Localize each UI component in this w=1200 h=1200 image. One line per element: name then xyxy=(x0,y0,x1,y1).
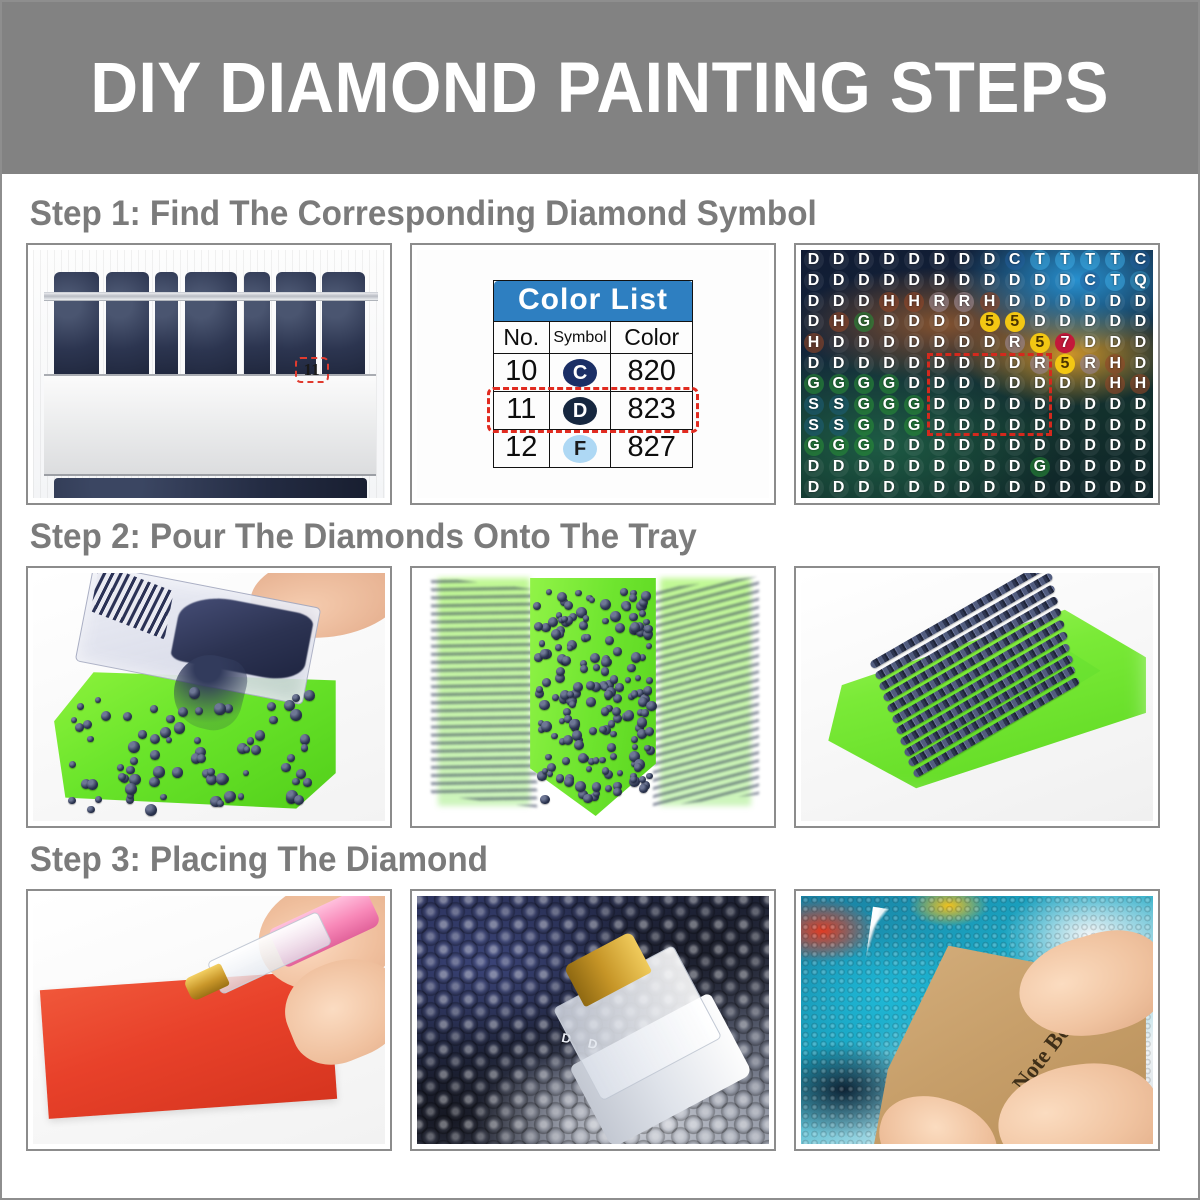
canvas-cell: 5 xyxy=(1002,312,1027,333)
canvas-cell: D xyxy=(977,250,1002,271)
canvas-cell: D xyxy=(1052,374,1077,395)
diamond-bead xyxy=(561,616,567,622)
canvas-cell: D xyxy=(902,333,927,354)
canvas-cell: D xyxy=(876,436,901,457)
diamond-bead xyxy=(627,664,636,673)
canvas-cell: H xyxy=(902,291,927,312)
canvas-cell: S xyxy=(801,395,826,416)
row-color: 827 xyxy=(611,430,693,468)
canvas-cell: H xyxy=(826,312,851,333)
diamond-bead xyxy=(269,716,277,724)
diamond-bead xyxy=(118,773,126,781)
diamond-bead xyxy=(580,665,588,673)
canvas-cell: D xyxy=(1002,271,1027,292)
canvas-cell: D xyxy=(801,291,826,312)
canvas-cell: D xyxy=(851,333,876,354)
canvas-cell: D xyxy=(1103,333,1128,354)
canvas-cell: D xyxy=(851,477,876,498)
diamond-bead xyxy=(593,664,599,670)
steps-container: Step 1: Find The Corresponding Diamond S… xyxy=(2,174,1198,1198)
diamond-bag-image: 11 xyxy=(33,250,385,498)
canvas-cell: D xyxy=(876,250,901,271)
canvas-cell: G xyxy=(851,374,876,395)
canvas-cell: D xyxy=(1128,395,1153,416)
row-no: 10 xyxy=(494,354,550,392)
diamond-bead xyxy=(548,617,558,627)
canvas-cell: D xyxy=(977,395,1002,416)
canvas-cell: D xyxy=(1052,271,1077,292)
diamond-bead xyxy=(117,764,124,771)
diamond-bead xyxy=(644,686,653,695)
diamond-bead xyxy=(178,707,188,717)
canvas-cell: D xyxy=(1078,395,1103,416)
panel-press-notebook: Note Book xyxy=(794,889,1160,1151)
canvas-cell: T xyxy=(1103,250,1128,271)
diamond-bead xyxy=(607,743,616,752)
canvas-cell: D xyxy=(1052,436,1077,457)
canvas-cell: D xyxy=(876,333,901,354)
canvas-cell: D xyxy=(977,333,1002,354)
canvas-cell: G xyxy=(851,395,876,416)
diamond-bead xyxy=(536,686,543,693)
canvas-cell: G xyxy=(902,395,927,416)
panel-color-list: Color List No. Symbol Color 10 C xyxy=(410,243,776,505)
canvas-cell: D xyxy=(851,457,876,478)
canvas-cell: D xyxy=(1078,333,1103,354)
column-header-color: Color xyxy=(611,322,693,354)
diamond-bead xyxy=(604,690,613,699)
canvas-cell: D xyxy=(927,457,952,478)
canvas-cell: T xyxy=(1103,271,1128,292)
symbol-badge: C xyxy=(563,359,597,387)
canvas-cell: R xyxy=(1002,333,1027,354)
step-2-block: Step 2: Pour The Diamonds Onto The Tray xyxy=(26,505,1176,828)
canvas-cell: C xyxy=(1128,250,1153,271)
diamond-bead xyxy=(569,701,576,708)
canvas-cell: D xyxy=(1078,312,1103,333)
canvas-cell: D xyxy=(952,457,977,478)
place-diamond-closeup-image: D D D xyxy=(417,896,769,1144)
panel-shake-tray xyxy=(410,566,776,828)
canvas-cell: R xyxy=(927,291,952,312)
column-header-no: No. xyxy=(494,322,550,354)
canvas-cell: D xyxy=(1128,312,1153,333)
step-2-panels xyxy=(26,566,1176,828)
diamond-bead xyxy=(610,753,617,760)
canvas-cell: D xyxy=(1078,436,1103,457)
diamond-bead xyxy=(584,634,591,641)
bead-cluster xyxy=(244,272,270,381)
diamond-bead xyxy=(77,703,83,709)
column-header-symbol: Symbol xyxy=(549,322,611,354)
canvas-cell: D xyxy=(952,374,977,395)
canvas-cell: D xyxy=(826,477,851,498)
diamond-bead xyxy=(217,800,224,807)
canvas-cell: D xyxy=(1052,457,1077,478)
canvas-cell: 5 xyxy=(1027,333,1052,354)
canvas-cell: G xyxy=(826,436,851,457)
diamond-bead xyxy=(639,784,648,793)
canvas-cell: D xyxy=(826,333,851,354)
diamond-bead xyxy=(569,719,580,730)
diamond-bead xyxy=(255,730,266,741)
diamond-bead xyxy=(613,647,622,656)
canvas-cell: D xyxy=(1128,291,1153,312)
diamond-bead xyxy=(610,611,621,622)
canvas-cell: D xyxy=(1027,374,1052,395)
canvas-cell: G xyxy=(876,374,901,395)
diamond-bead xyxy=(206,774,217,785)
motion-blur-right xyxy=(653,576,759,807)
canvas-cell: D xyxy=(1027,415,1052,436)
diamond-bead xyxy=(216,773,227,784)
canvas-cell: S xyxy=(801,415,826,436)
canvas-cell: G xyxy=(851,436,876,457)
diamond-bead xyxy=(244,746,250,752)
diamond-bead xyxy=(612,707,621,716)
canvas-cell: C xyxy=(1078,271,1103,292)
diamond-bead xyxy=(145,804,157,816)
diamond-bead xyxy=(583,794,592,803)
canvas-cell: D xyxy=(826,250,851,271)
canvas-cell: D xyxy=(952,250,977,271)
diamond-bead xyxy=(75,723,84,732)
canvas-cell: Q xyxy=(1128,271,1153,292)
diamond-bead xyxy=(615,683,624,692)
canvas-cell: H xyxy=(801,333,826,354)
canvas-cell: D xyxy=(927,333,952,354)
diamond-bead xyxy=(563,735,573,745)
canvas-cell: D xyxy=(1128,436,1153,457)
diamond-bead xyxy=(542,678,551,687)
canvas-cell: D xyxy=(1002,415,1027,436)
canvas-cell: G xyxy=(801,436,826,457)
row-color: 823 xyxy=(611,392,693,430)
canvas-cell: D xyxy=(1078,374,1103,395)
diamond-bead xyxy=(639,776,646,783)
canvas-cell: D xyxy=(1128,457,1153,478)
canvas-cell: D xyxy=(902,374,927,395)
diamond-bead xyxy=(207,768,215,776)
canvas-cell: H xyxy=(977,291,1002,312)
color-list-image: Color List No. Symbol Color 10 C xyxy=(417,250,769,498)
canvas-cell: R xyxy=(952,291,977,312)
canvas-cell: D xyxy=(902,353,927,374)
canvas-cell: D xyxy=(1103,395,1128,416)
canvas-cell: D xyxy=(1103,291,1128,312)
page-header: DIY DIAMOND PAINTING STEPS xyxy=(2,2,1198,174)
diamond-bead xyxy=(68,797,76,805)
canvas-cell: T xyxy=(1052,250,1077,271)
canvas-cell: D xyxy=(801,477,826,498)
canvas-cell: D xyxy=(977,353,1002,374)
canvas-cell: T xyxy=(1027,250,1052,271)
canvas-cell: H xyxy=(1103,374,1128,395)
diamond-bead xyxy=(87,806,94,813)
step-1-title: Step 1: Find The Corresponding Diamond S… xyxy=(26,182,1119,243)
canvas-cell: D xyxy=(952,333,977,354)
canvas-cell: D xyxy=(952,415,977,436)
diamond-bead xyxy=(601,657,611,667)
row-no: 12 xyxy=(494,430,550,468)
bag-zip-seal xyxy=(44,292,378,301)
diamond-bead xyxy=(599,726,607,734)
canvas-cell: D xyxy=(1103,477,1128,498)
canvas-cell: D xyxy=(876,353,901,374)
canvas-cell: D xyxy=(902,436,927,457)
diamond-bead xyxy=(303,778,312,787)
canvas-cell: H xyxy=(1128,374,1153,395)
panel-diamond-bag: 11 xyxy=(26,243,392,505)
diamond-bead xyxy=(294,795,304,805)
diamond-bead xyxy=(197,754,206,763)
row-color: 820 xyxy=(611,354,693,392)
canvas-cell: S xyxy=(826,395,851,416)
press-notebook-image: Note Book xyxy=(801,896,1153,1144)
canvas-cell: D xyxy=(801,271,826,292)
canvas-cell: D xyxy=(1002,436,1027,457)
canvas-cell: D xyxy=(1052,291,1077,312)
canvas-cell: D xyxy=(1002,395,1027,416)
canvas-cell: T xyxy=(1078,250,1103,271)
motion-blur-left xyxy=(431,576,537,807)
canvas-cell: G xyxy=(851,415,876,436)
canvas-cell: D xyxy=(876,271,901,292)
canvas-cell: D xyxy=(1078,477,1103,498)
step-1-block: Step 1: Find The Corresponding Diamond S… xyxy=(26,182,1176,505)
canvas-cell: H xyxy=(1103,353,1128,374)
panel-place-diamond: D D D xyxy=(410,889,776,1151)
diamond-bead xyxy=(602,767,610,775)
canvas-cell: D xyxy=(1002,353,1027,374)
diamond-bead xyxy=(620,588,628,596)
canvas-cell: 5 xyxy=(1052,353,1077,374)
bead-cluster xyxy=(155,272,178,381)
row-symbol: C xyxy=(549,354,611,392)
canvas-cell: D xyxy=(902,250,927,271)
diamond-bead xyxy=(631,736,638,743)
canvas-cell: S xyxy=(826,415,851,436)
diamond-bead xyxy=(301,744,308,751)
symbol-badge: F xyxy=(563,435,597,463)
diamond-bead xyxy=(646,643,652,649)
canvas-cell: D xyxy=(1078,291,1103,312)
canvas-cell: G xyxy=(851,312,876,333)
canvas-cell: D xyxy=(826,271,851,292)
diamond-bead xyxy=(540,649,550,659)
diamond-bead xyxy=(624,710,634,720)
diamond-bead xyxy=(610,675,618,683)
canvas-cell: D xyxy=(1002,374,1027,395)
diamond-bead xyxy=(629,594,637,602)
canvas-cell: D xyxy=(1027,395,1052,416)
diamond-bead xyxy=(138,730,147,739)
diamond-bead xyxy=(602,618,608,624)
canvas-cell: D xyxy=(952,271,977,292)
diamond-bead xyxy=(564,777,574,787)
diamond-bead xyxy=(149,777,160,788)
canvas-cell: D xyxy=(952,312,977,333)
canvas-cell: D xyxy=(1027,291,1052,312)
panel-symbol-canvas: DDDDDDDDCTTTTCDDDDDDDDDDDCTQDDDHHRRHDDDD… xyxy=(794,243,1160,505)
canvas-cell: 5 xyxy=(977,312,1002,333)
canvas-cell: D xyxy=(1103,312,1128,333)
diamond-bead xyxy=(646,773,653,780)
table-row: 10 C 820 xyxy=(494,354,693,392)
canvas-cell: D xyxy=(927,415,952,436)
diamond-bead xyxy=(287,754,295,762)
diamond-bead xyxy=(567,691,574,698)
diamond-bead xyxy=(87,779,98,790)
canvas-cell: D xyxy=(1128,415,1153,436)
diamond-bead xyxy=(562,656,571,665)
canvas-cell: D xyxy=(1128,477,1153,498)
diamond-bead xyxy=(635,675,641,681)
canvas-cell: D xyxy=(902,312,927,333)
canvas-cell: D xyxy=(826,291,851,312)
diamond-bead xyxy=(586,697,596,707)
diamond-bead xyxy=(300,734,310,744)
canvas-cell: D xyxy=(1078,415,1103,436)
step-2-title: Step 2: Pour The Diamonds Onto The Tray xyxy=(26,505,1119,566)
canvas-cell: D xyxy=(1027,312,1052,333)
canvas-cell: D xyxy=(876,415,901,436)
canvas-cell: D xyxy=(952,477,977,498)
diamond-bead xyxy=(247,737,254,744)
row-symbol: D xyxy=(549,392,611,430)
bead-cluster xyxy=(106,272,149,381)
canvas-cell: D xyxy=(801,353,826,374)
bag-white-label xyxy=(44,374,377,476)
diamond-bead xyxy=(238,793,244,799)
canvas-cell: G xyxy=(826,374,851,395)
canvas-cell: H xyxy=(876,291,901,312)
diamond-bead xyxy=(126,766,135,775)
diamond-bead xyxy=(551,629,561,639)
diamond-bead xyxy=(281,763,291,773)
canvas-cell: D xyxy=(952,436,977,457)
diamond-bead xyxy=(562,757,570,765)
infographic-page: DIY DIAMOND PAINTING STEPS Step 1: Find … xyxy=(0,0,1200,1200)
canvas-cell: D xyxy=(927,477,952,498)
panel-pour-into-tray xyxy=(26,566,392,828)
diamond-bead xyxy=(539,640,545,646)
diamond-bead xyxy=(304,690,315,701)
canvas-cell: D xyxy=(977,271,1002,292)
symbol-badge: D xyxy=(563,397,597,425)
diamond-bead xyxy=(125,783,137,795)
diamond-bead xyxy=(290,709,302,721)
diamond-bead xyxy=(574,740,584,750)
shake-tray-image xyxy=(417,573,769,821)
diamond-bead xyxy=(534,622,543,631)
canvas-cell: D xyxy=(1027,477,1052,498)
canvas-cell: G xyxy=(801,374,826,395)
canvas-cell: D xyxy=(977,457,1002,478)
canvas-cell: D xyxy=(927,271,952,292)
diamond-bead xyxy=(630,622,641,633)
bag-number-badge: 11 xyxy=(295,357,329,383)
canvas-cell: D xyxy=(902,477,927,498)
diamond-bead xyxy=(556,774,565,783)
canvas-cell: D xyxy=(801,250,826,271)
diamond-bead xyxy=(605,636,614,645)
pen-wax-pad-image xyxy=(33,896,385,1144)
symbol-grid: DDDDDDDDCTTTTCDDDDDDDDDDDCTQDDDHHRRHDDDD… xyxy=(801,250,1153,498)
diamond-bead xyxy=(69,761,76,768)
canvas-cell: D xyxy=(927,436,952,457)
canvas-cell: D xyxy=(1052,312,1077,333)
canvas-cell: D xyxy=(927,353,952,374)
diamond-bead xyxy=(556,667,565,676)
diamond-bead xyxy=(150,705,158,713)
pen-gold-tip xyxy=(183,964,230,1003)
diamond-bead xyxy=(541,721,552,732)
step-3-block: Step 3: Placing The Diamond xyxy=(26,828,1176,1151)
diamond-bead xyxy=(150,750,160,760)
canvas-cell: R xyxy=(1078,353,1103,374)
canvas-cell: D xyxy=(927,250,952,271)
diamond-bead xyxy=(95,796,102,803)
diamond-bead xyxy=(641,709,649,717)
diamond-bead xyxy=(267,702,276,711)
canvas-cell: D xyxy=(902,271,927,292)
canvas-cell: 7 xyxy=(1052,333,1077,354)
aligned-diamonds-tray-image xyxy=(801,573,1153,821)
canvas-cell: D xyxy=(927,312,952,333)
color-list-table: Color List No. Symbol Color 10 C xyxy=(493,280,693,468)
canvas-cell: R xyxy=(1027,353,1052,374)
diamond-bead xyxy=(613,788,621,796)
pour-bag-into-tray-image xyxy=(33,573,385,821)
canvas-cell: D xyxy=(1027,271,1052,292)
canvas-cell: D xyxy=(977,436,1002,457)
diamond-bead xyxy=(583,615,590,622)
canvas-cell: D xyxy=(1128,353,1153,374)
diamond-bead xyxy=(552,694,559,701)
canvas-cell: C xyxy=(1002,250,1027,271)
canvas-cell: D xyxy=(851,291,876,312)
diamond-bead xyxy=(586,681,595,690)
diamond-bead xyxy=(592,782,601,791)
canvas-cell: D xyxy=(1103,436,1128,457)
row-no: 11 xyxy=(494,392,550,430)
canvas-cell: D xyxy=(851,250,876,271)
diamond-bead xyxy=(83,720,92,729)
canvas-cell: D xyxy=(927,395,952,416)
canvas-cell: D xyxy=(902,457,927,478)
bead-cluster xyxy=(185,272,237,381)
diamond-bead xyxy=(631,691,638,698)
diamond-bead xyxy=(644,745,651,752)
panel-pen-wax-pad xyxy=(26,889,392,1151)
diamond-bead xyxy=(600,599,611,610)
bag-bottom-beads xyxy=(54,478,367,498)
canvas-cell: D xyxy=(826,457,851,478)
canvas-cell: D xyxy=(1078,457,1103,478)
diamond-bead xyxy=(643,619,649,625)
canvas-cell: D xyxy=(1128,333,1153,354)
page-title: DIY DIAMOND PAINTING STEPS xyxy=(91,48,1110,129)
symbol-canvas-image: DDDDDDDDCTTTTCDDDDDDDDDDDCTQDDDHHRRHDDDD… xyxy=(801,250,1153,498)
diamond-bead xyxy=(630,776,637,783)
canvas-cell: D xyxy=(1027,436,1052,457)
diamond-bead xyxy=(539,700,550,711)
canvas-cell: D xyxy=(977,477,1002,498)
canvas-cell: D xyxy=(826,353,851,374)
canvas-cell: G xyxy=(902,415,927,436)
diamond-bead xyxy=(160,794,167,801)
